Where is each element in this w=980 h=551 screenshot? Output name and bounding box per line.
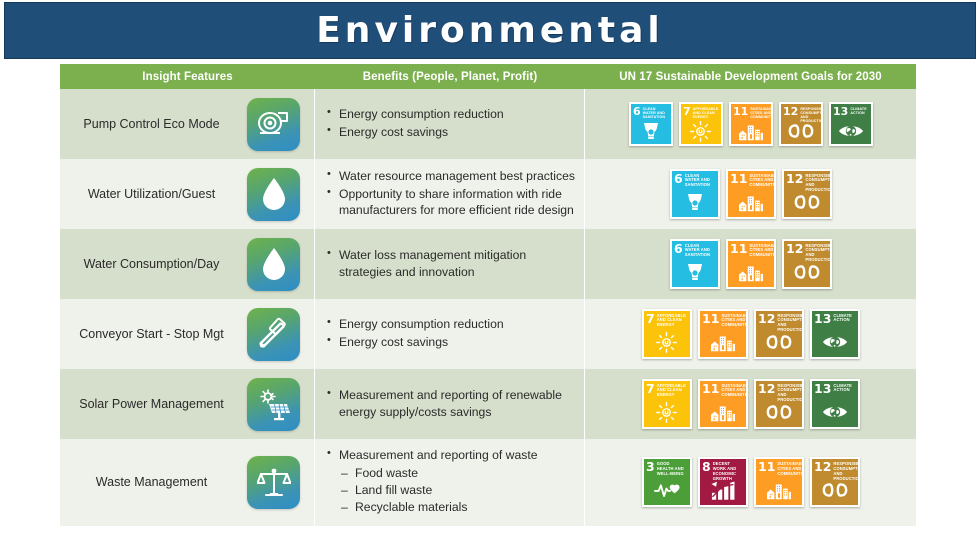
benefit-item: Water loss management mitigation strateg… (327, 247, 578, 281)
sdg-strip: 6CLEAN WATER AND SANITATION11SUSTAINABLE… (667, 169, 835, 219)
sdg-number: 6 (674, 174, 683, 184)
benefit-text: Energy consumption reduction (339, 107, 504, 121)
sdg-title: GOOD HEALTH AND WELL-BEING (657, 462, 688, 477)
sdg-goal-11-icon: 11SUSTAINABLE CITIES AND COMMUNITIES (726, 239, 776, 289)
sdg-number: 12 (758, 384, 775, 394)
sdg-water-glass-icon (672, 188, 718, 216)
sdg-goal-12-icon: 12RESPONSIBLE CONSUMPTION AND PRODUCTION (754, 379, 804, 429)
sdg-title: SUSTAINABLE CITIES AND COMMUNITIES (749, 244, 773, 259)
sdg-city-icon (756, 476, 802, 504)
water-drop-icon (247, 168, 300, 221)
sdg-tile: 3GOOD HEALTH AND WELL-BEING (644, 459, 690, 505)
benefits-cell: Water resource management best practices… (315, 159, 585, 229)
sdg-number: 12 (814, 462, 831, 472)
sdg-number: 6 (674, 244, 683, 254)
sdg-number: 11 (702, 384, 719, 394)
benefit-list: Energy consumption reductionEnergy cost … (327, 106, 504, 142)
benefits-cell: Energy consumption reductionEnergy cost … (315, 299, 585, 369)
sdg-eye-globe-icon (812, 328, 858, 356)
sdg-goal-11-icon: 11SUSTAINABLE CITIES AND COMMUNITIES (726, 169, 776, 219)
sdg-water-glass-icon (631, 119, 671, 143)
sdg-tile: 7AFFORDABLE AND CLEAN ENERGY (681, 104, 721, 144)
feature-cell: Water Utilization/Guest (60, 159, 315, 229)
benefit-item: Measurement and reporting of wasteFood w… (327, 447, 538, 517)
sdg-tile: 12RESPONSIBLE CONSUMPTION AND PRODUCTION (756, 381, 802, 427)
feature-label: Water Utilization/Guest (60, 186, 247, 202)
insights-table: Insight Features Benefits (People, Plane… (60, 64, 916, 526)
sdg-number: 11 (758, 462, 775, 472)
benefit-item: Measurement and reporting of renewable e… (327, 387, 578, 421)
sdg-title: CLIMATE ACTION (850, 107, 868, 116)
sdg-title: SUSTAINABLE CITIES AND COMMUNITIES (749, 174, 773, 189)
sdg-head: 11SUSTAINABLE CITIES AND COMMUNITIES (730, 244, 772, 259)
sdg-goal-11-icon: 11SUSTAINABLE CITIES AND COMMUNITIES (698, 379, 748, 429)
sdg-tile: 11SUSTAINABLE CITIES AND COMMUNITIES (731, 104, 771, 144)
sdg-goal-11-icon: 11SUSTAINABLE CITIES AND COMMUNITIES (698, 309, 748, 359)
benefit-list: Water loss management mitigation strateg… (327, 247, 578, 282)
solar-panel-icon (247, 378, 300, 431)
slide: Environmental Insight Features Benefits … (0, 0, 980, 551)
feature-cell: Waste Management (60, 439, 315, 526)
sdg-head: 7AFFORDABLE AND CLEAN ENERGY (683, 107, 719, 120)
sdg-water-glass-icon (672, 258, 718, 286)
sdg-tile: 13CLIMATE ACTION (812, 381, 858, 427)
sdg-number: 6 (633, 107, 641, 116)
benefit-subitem: Recyclable materials (339, 499, 538, 516)
benefit-text: Energy cost savings (339, 335, 448, 349)
sdg-goal-7-icon: 7AFFORDABLE AND CLEAN ENERGY (679, 102, 723, 146)
sdg-city-icon (728, 258, 774, 286)
sdg-goal-13-icon: 13CLIMATE ACTION (829, 102, 873, 146)
sdg-goals-cell: 7AFFORDABLE AND CLEAN ENERGY11SUSTAINABL… (585, 299, 916, 369)
sdg-title: CLIMATE ACTION (833, 314, 855, 324)
sdg-growth-chart-icon (700, 476, 746, 504)
benefit-item: Opportunity to share information with ri… (327, 186, 578, 220)
sdg-sun-icon (644, 398, 690, 426)
feature-label: Solar Power Management (60, 396, 247, 412)
feature-cell: Pump Control Eco Mode (60, 89, 315, 159)
sdg-infinity-icon (784, 188, 830, 216)
benefit-sublist: Food wasteLand fill wasteRecyclable mate… (339, 465, 538, 517)
benefits-cell: Measurement and reporting of wasteFood w… (315, 439, 585, 526)
sdg-goals-cell: 3GOOD HEALTH AND WELL-BEING8DECENT WORK … (585, 439, 916, 526)
sdg-number: 11 (733, 107, 748, 116)
sdg-title: AFFORDABLE AND CLEAN ENERGY (657, 314, 688, 329)
column-header-benefits: Benefits (People, Planet, Profit) (315, 71, 585, 83)
sdg-title: SUSTAINABLE CITIES AND COMMUNITIES (750, 107, 770, 120)
benefit-list: Energy consumption reductionEnergy cost … (327, 316, 504, 352)
sdg-head: 3GOOD HEALTH AND WELL-BEING (646, 462, 688, 477)
benefit-subitem: Food waste (339, 465, 538, 482)
table-row: Conveyor Start - Stop MgtEnergy consumpt… (60, 299, 916, 369)
sdg-strip: 6CLEAN WATER AND SANITATION11SUSTAINABLE… (667, 239, 835, 289)
table-row: Pump Control Eco ModeEnergy consumption … (60, 89, 916, 159)
sdg-tile: 6CLEAN WATER AND SANITATION (672, 241, 718, 287)
table-row: Water Utilization/GuestWater resource ma… (60, 159, 916, 229)
sdg-head: 11SUSTAINABLE CITIES AND COMMUNITIES (702, 384, 744, 399)
sdg-title: CLEAN WATER AND SANITATION (643, 107, 669, 120)
sdg-title: CLEAN WATER AND SANITATION (685, 244, 716, 259)
feature-cell: Solar Power Management (60, 369, 315, 439)
sdg-goal-12-icon: 12RESPONSIBLE CONSUMPTION AND PRODUCTION (782, 239, 832, 289)
sdg-number: 13 (814, 384, 831, 394)
sdg-goal-11-icon: 11SUSTAINABLE CITIES AND COMMUNITIES (729, 102, 773, 146)
sdg-title: SUSTAINABLE CITIES AND COMMUNITIES (721, 314, 745, 329)
table-row: Water Consumption/DayWater loss manageme… (60, 229, 916, 299)
sdg-head: 13CLIMATE ACTION (833, 107, 869, 116)
sdg-head: 6CLEAN WATER AND SANITATION (674, 244, 716, 259)
sdg-tile: 13CLIMATE ACTION (831, 104, 871, 144)
sdg-title: CLEAN WATER AND SANITATION (685, 174, 716, 189)
sdg-infinity-icon (784, 258, 830, 286)
sdg-number: 11 (702, 314, 719, 324)
page-title: Environmental (316, 10, 664, 51)
sdg-strip: 7AFFORDABLE AND CLEAN ENERGY11SUSTAINABL… (639, 309, 863, 359)
sdg-infinity-icon (812, 476, 858, 504)
feature-label: Water Consumption/Day (60, 256, 247, 272)
sdg-goal-8-icon: 8DECENT WORK AND ECONOMIC GROWTH (698, 457, 748, 507)
sdg-infinity-icon (756, 398, 802, 426)
feature-cell: Conveyor Start - Stop Mgt (60, 299, 315, 369)
benefit-text: Energy cost savings (339, 125, 448, 139)
benefit-item: Water resource management best practices (327, 168, 578, 185)
feature-label: Conveyor Start - Stop Mgt (60, 326, 247, 342)
pump-icon (247, 98, 300, 151)
benefits-cell: Measurement and reporting of renewable e… (315, 369, 585, 439)
sdg-head: 11SUSTAINABLE CITIES AND COMMUNITIES (730, 174, 772, 189)
benefit-list: Water resource management best practices… (327, 168, 578, 220)
column-header-insight-features: Insight Features (60, 71, 315, 83)
sdg-head: 13CLIMATE ACTION (814, 314, 856, 324)
sdg-tile: 11SUSTAINABLE CITIES AND COMMUNITIES (700, 381, 746, 427)
sdg-goals-cell: 6CLEAN WATER AND SANITATION7AFFORDABLE A… (585, 89, 916, 159)
sdg-city-icon (700, 328, 746, 356)
sdg-heartbeat-icon (644, 476, 690, 504)
benefit-text: Water resource management best practices (339, 169, 575, 183)
sdg-strip: 7AFFORDABLE AND CLEAN ENERGY11SUSTAINABL… (639, 379, 863, 429)
benefit-list: Measurement and reporting of wasteFood w… (327, 447, 538, 518)
sdg-tile: 11SUSTAINABLE CITIES AND COMMUNITIES (700, 311, 746, 357)
sdg-goal-12-icon: 12RESPONSIBLE CONSUMPTION AND PRODUCTION (779, 102, 823, 146)
benefit-list: Measurement and reporting of renewable e… (327, 387, 578, 422)
sdg-tile: 6CLEAN WATER AND SANITATION (631, 104, 671, 144)
sdg-tile: 12RESPONSIBLE CONSUMPTION AND PRODUCTION (784, 171, 830, 217)
sdg-title: SUSTAINABLE CITIES AND COMMUNITIES (721, 384, 745, 399)
benefits-cell: Energy consumption reductionEnergy cost … (315, 89, 585, 159)
feature-label: Pump Control Eco Mode (60, 116, 247, 132)
sdg-goal-13-icon: 13CLIMATE ACTION (810, 309, 860, 359)
sdg-tile: 11SUSTAINABLE CITIES AND COMMUNITIES (728, 241, 774, 287)
sdg-goal-11-icon: 11SUSTAINABLE CITIES AND COMMUNITIES (754, 457, 804, 507)
sdg-head: 7AFFORDABLE AND CLEAN ENERGY (646, 314, 688, 329)
sdg-goal-3-icon: 3GOOD HEALTH AND WELL-BEING (642, 457, 692, 507)
sdg-head: 6CLEAN WATER AND SANITATION (633, 107, 669, 120)
sdg-number: 13 (833, 107, 848, 116)
sdg-goal-6-icon: 6CLEAN WATER AND SANITATION (670, 239, 720, 289)
sdg-tile: 12RESPONSIBLE CONSUMPTION AND PRODUCTION (812, 459, 858, 505)
sdg-goal-13-icon: 13CLIMATE ACTION (810, 379, 860, 429)
sdg-goal-6-icon: 6CLEAN WATER AND SANITATION (629, 102, 673, 146)
sdg-tile: 12RESPONSIBLE CONSUMPTION AND PRODUCTION (756, 311, 802, 357)
sdg-number: 12 (786, 244, 803, 254)
sdg-number: 12 (758, 314, 775, 324)
sdg-city-icon (700, 398, 746, 426)
table-body: Pump Control Eco ModeEnergy consumption … (60, 89, 916, 526)
water-drop-icon (247, 238, 300, 291)
sdg-goal-12-icon: 12RESPONSIBLE CONSUMPTION AND PRODUCTION (810, 457, 860, 507)
sdg-city-icon (728, 188, 774, 216)
table-row: Solar Power ManagementMeasurement and re… (60, 369, 916, 439)
table-header-row: Insight Features Benefits (People, Plane… (60, 64, 916, 89)
sdg-goal-12-icon: 12RESPONSIBLE CONSUMPTION AND PRODUCTION (754, 309, 804, 359)
benefit-subitem: Land fill waste (339, 482, 538, 499)
sdg-number: 11 (730, 244, 747, 254)
sdg-city-icon (731, 119, 771, 143)
table-row: Waste ManagementMeasurement and reportin… (60, 439, 916, 526)
sdg-infinity-icon (756, 328, 802, 356)
sdg-number: 7 (646, 314, 655, 324)
benefit-text: Measurement and reporting of renewable e… (339, 388, 562, 419)
sdg-head: 6CLEAN WATER AND SANITATION (674, 174, 716, 189)
benefit-text: Measurement and reporting of waste (339, 448, 538, 462)
sdg-goals-cell: 6CLEAN WATER AND SANITATION11SUSTAINABLE… (585, 159, 916, 229)
benefit-item: Energy consumption reduction (327, 106, 504, 123)
sdg-goals-cell: 6CLEAN WATER AND SANITATION11SUSTAINABLE… (585, 229, 916, 299)
sdg-tile: 11SUSTAINABLE CITIES AND COMMUNITIES (728, 171, 774, 217)
sdg-head: 13CLIMATE ACTION (814, 384, 856, 394)
sdg-number: 11 (730, 174, 747, 184)
sdg-goal-7-icon: 7AFFORDABLE AND CLEAN ENERGY (642, 309, 692, 359)
sdg-number: 12 (786, 174, 803, 184)
sdg-title: SUSTAINABLE CITIES AND COMMUNITIES (777, 462, 801, 477)
sdg-infinity-icon (781, 119, 821, 143)
feature-label: Waste Management (60, 474, 247, 490)
sdg-head: 11SUSTAINABLE CITIES AND COMMUNITIES (758, 462, 800, 477)
sdg-goals-cell: 7AFFORDABLE AND CLEAN ENERGY11SUSTAINABL… (585, 369, 916, 439)
title-banner: Environmental (4, 2, 976, 59)
sdg-eye-globe-icon (812, 398, 858, 426)
sdg-strip: 6CLEAN WATER AND SANITATION7AFFORDABLE A… (626, 102, 876, 146)
column-header-un-goals: UN 17 Sustainable Development Goals for … (585, 71, 916, 83)
sdg-head: 7AFFORDABLE AND CLEAN ENERGY (646, 384, 688, 399)
sdg-number: 8 (702, 462, 711, 472)
sdg-tile: 7AFFORDABLE AND CLEAN ENERGY (644, 311, 690, 357)
sdg-goal-7-icon: 7AFFORDABLE AND CLEAN ENERGY (642, 379, 692, 429)
sdg-strip: 3GOOD HEALTH AND WELL-BEING8DECENT WORK … (639, 457, 863, 507)
sdg-title: CLIMATE ACTION (833, 384, 855, 394)
sdg-number: 13 (814, 314, 831, 324)
benefits-cell: Water loss management mitigation strateg… (315, 229, 585, 299)
sdg-head: 11SUSTAINABLE CITIES AND COMMUNITIES (733, 107, 769, 120)
sdg-tile: 7AFFORDABLE AND CLEAN ENERGY (644, 381, 690, 427)
sdg-tile: 13CLIMATE ACTION (812, 311, 858, 357)
benefit-item: Energy cost savings (327, 124, 504, 141)
sdg-tile: 12RESPONSIBLE CONSUMPTION AND PRODUCTION (781, 104, 821, 144)
scales-icon (247, 456, 300, 509)
benefit-text: Energy consumption reduction (339, 317, 504, 331)
sdg-tile: 6CLEAN WATER AND SANITATION (672, 171, 718, 217)
sdg-eye-globe-icon (831, 119, 871, 143)
sdg-number: 12 (783, 107, 798, 116)
benefit-item: Energy cost savings (327, 334, 504, 351)
sdg-number: 7 (646, 384, 655, 394)
sdg-tile: 8DECENT WORK AND ECONOMIC GROWTH (700, 459, 746, 505)
sdg-title: AFFORDABLE AND CLEAN ENERGY (693, 107, 719, 120)
sdg-goal-6-icon: 6CLEAN WATER AND SANITATION (670, 169, 720, 219)
sdg-goal-12-icon: 12RESPONSIBLE CONSUMPTION AND PRODUCTION (782, 169, 832, 219)
sdg-number: 7 (683, 107, 691, 116)
conveyor-icon (247, 308, 300, 361)
benefit-text: Water loss management mitigation strateg… (339, 248, 526, 279)
feature-cell: Water Consumption/Day (60, 229, 315, 299)
sdg-title: AFFORDABLE AND CLEAN ENERGY (657, 384, 688, 399)
benefit-item: Energy consumption reduction (327, 316, 504, 333)
sdg-sun-icon (681, 119, 721, 143)
benefit-text: Opportunity to share information with ri… (339, 187, 574, 218)
sdg-number: 3 (646, 462, 655, 472)
sdg-head: 11SUSTAINABLE CITIES AND COMMUNITIES (702, 314, 744, 329)
sdg-tile: 11SUSTAINABLE CITIES AND COMMUNITIES (756, 459, 802, 505)
sdg-sun-icon (644, 328, 690, 356)
sdg-tile: 12RESPONSIBLE CONSUMPTION AND PRODUCTION (784, 241, 830, 287)
